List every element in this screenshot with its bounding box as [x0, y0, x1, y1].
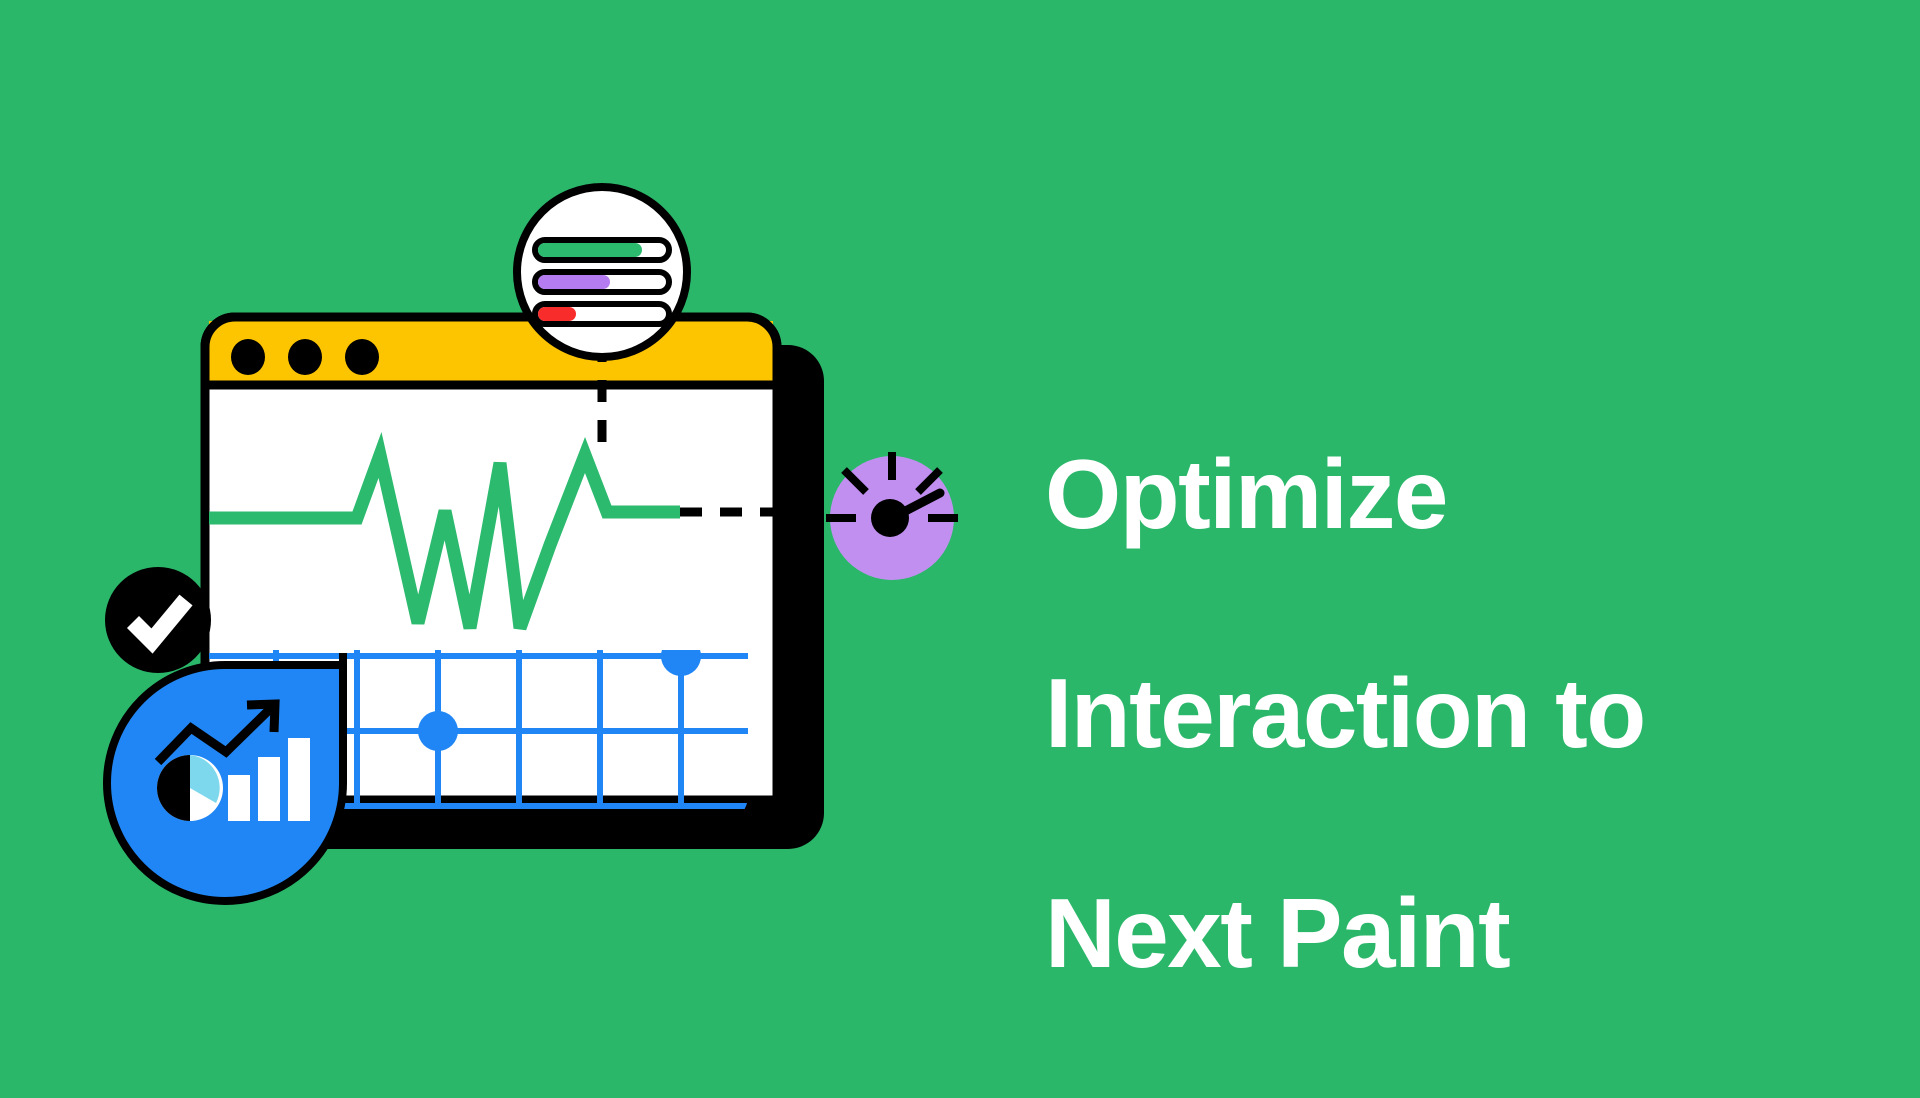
- page-title-line-2: Interaction to: [1045, 659, 1865, 769]
- bar-chart-bar-3: [288, 738, 310, 821]
- page-title: Optimize Interaction to Next Paint: [1045, 330, 1865, 1098]
- grid-data-dot: [418, 711, 458, 751]
- metrics-bar-fill-good: [538, 243, 642, 257]
- analytics-badge[interactable]: [107, 653, 343, 901]
- traffic-light-dot-2[interactable]: [288, 339, 322, 375]
- page-title-line-1: Optimize: [1045, 440, 1865, 550]
- page-title-line-3: Next Paint: [1045, 879, 1865, 989]
- traffic-light-dot-3[interactable]: [345, 339, 379, 375]
- bar-chart-bar-1: [228, 775, 250, 821]
- speed-gauge[interactable]: [826, 452, 958, 580]
- traffic-light-dot-1[interactable]: [231, 339, 265, 375]
- metrics-badge[interactable]: [517, 187, 687, 357]
- bar-chart-bar-2: [258, 757, 280, 821]
- metrics-bar-fill-poor: [538, 307, 576, 321]
- check-badge[interactable]: [105, 567, 211, 673]
- hero-banner: Optimize Interaction to Next Paint: [0, 0, 1920, 1080]
- gauge-hub: [871, 499, 909, 537]
- check-badge-face: [105, 567, 211, 673]
- metrics-bar-fill-needs-improvement: [538, 275, 610, 289]
